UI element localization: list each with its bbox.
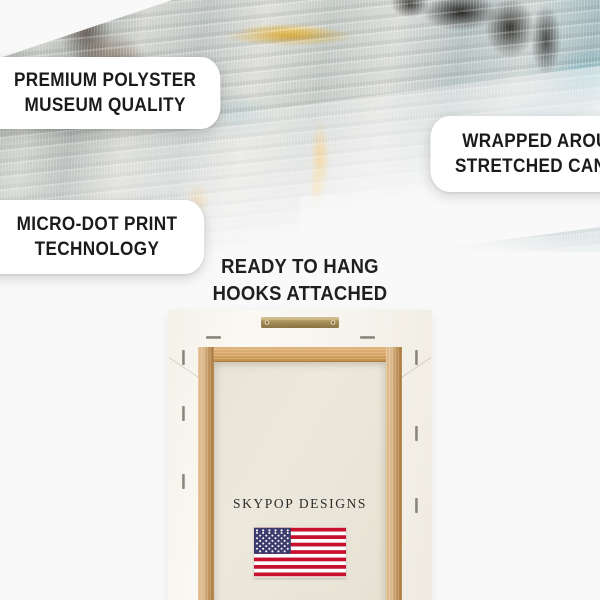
badge-premium-polyster: PREMIUM POLYSTER MUSEUM QUALITY [0,57,220,129]
us-flag-icon [254,526,346,578]
badge-premium-line1: PREMIUM POLYSTER [4,68,206,93]
staple-icon [206,336,221,339]
badge-premium-line2: MUSEUM QUALITY [4,93,206,118]
badge-wrapped-line1: WRAPPED AROUND [444,129,600,154]
staple-icon [360,336,375,339]
product-feature-graphic: PREMIUM POLYSTER MUSEUM QUALITY WRAPPED … [0,0,600,600]
badge-wrapped-line2: STRETCHED CANVAS [444,154,600,179]
stretcher-bar-left [198,347,214,600]
sawtooth-hanger-icon [261,316,339,331]
staple-icon [415,350,418,365]
staple-icon [415,426,418,441]
stretcher-bar-top [198,347,402,362]
staple-icon [182,350,185,365]
caption-line2: HOOKS ATTACHED [30,280,570,307]
staple-icon [182,406,185,421]
badge-wrapped-around: WRAPPED AROUND STRETCHED CANVAS [430,116,600,192]
caption-line1: READY TO HANG [30,253,570,280]
staple-icon [182,474,185,489]
ready-to-hang-caption: READY TO HANG HOOKS ATTACHED [0,253,600,308]
canvas-back-view: SKYPOP DESIGNS [168,310,432,600]
badge-micro-line1: MICRO-DOT PRINT [2,212,192,237]
brand-name: SKYPOP DESIGNS [168,496,432,512]
stretcher-bar-right [386,347,402,600]
